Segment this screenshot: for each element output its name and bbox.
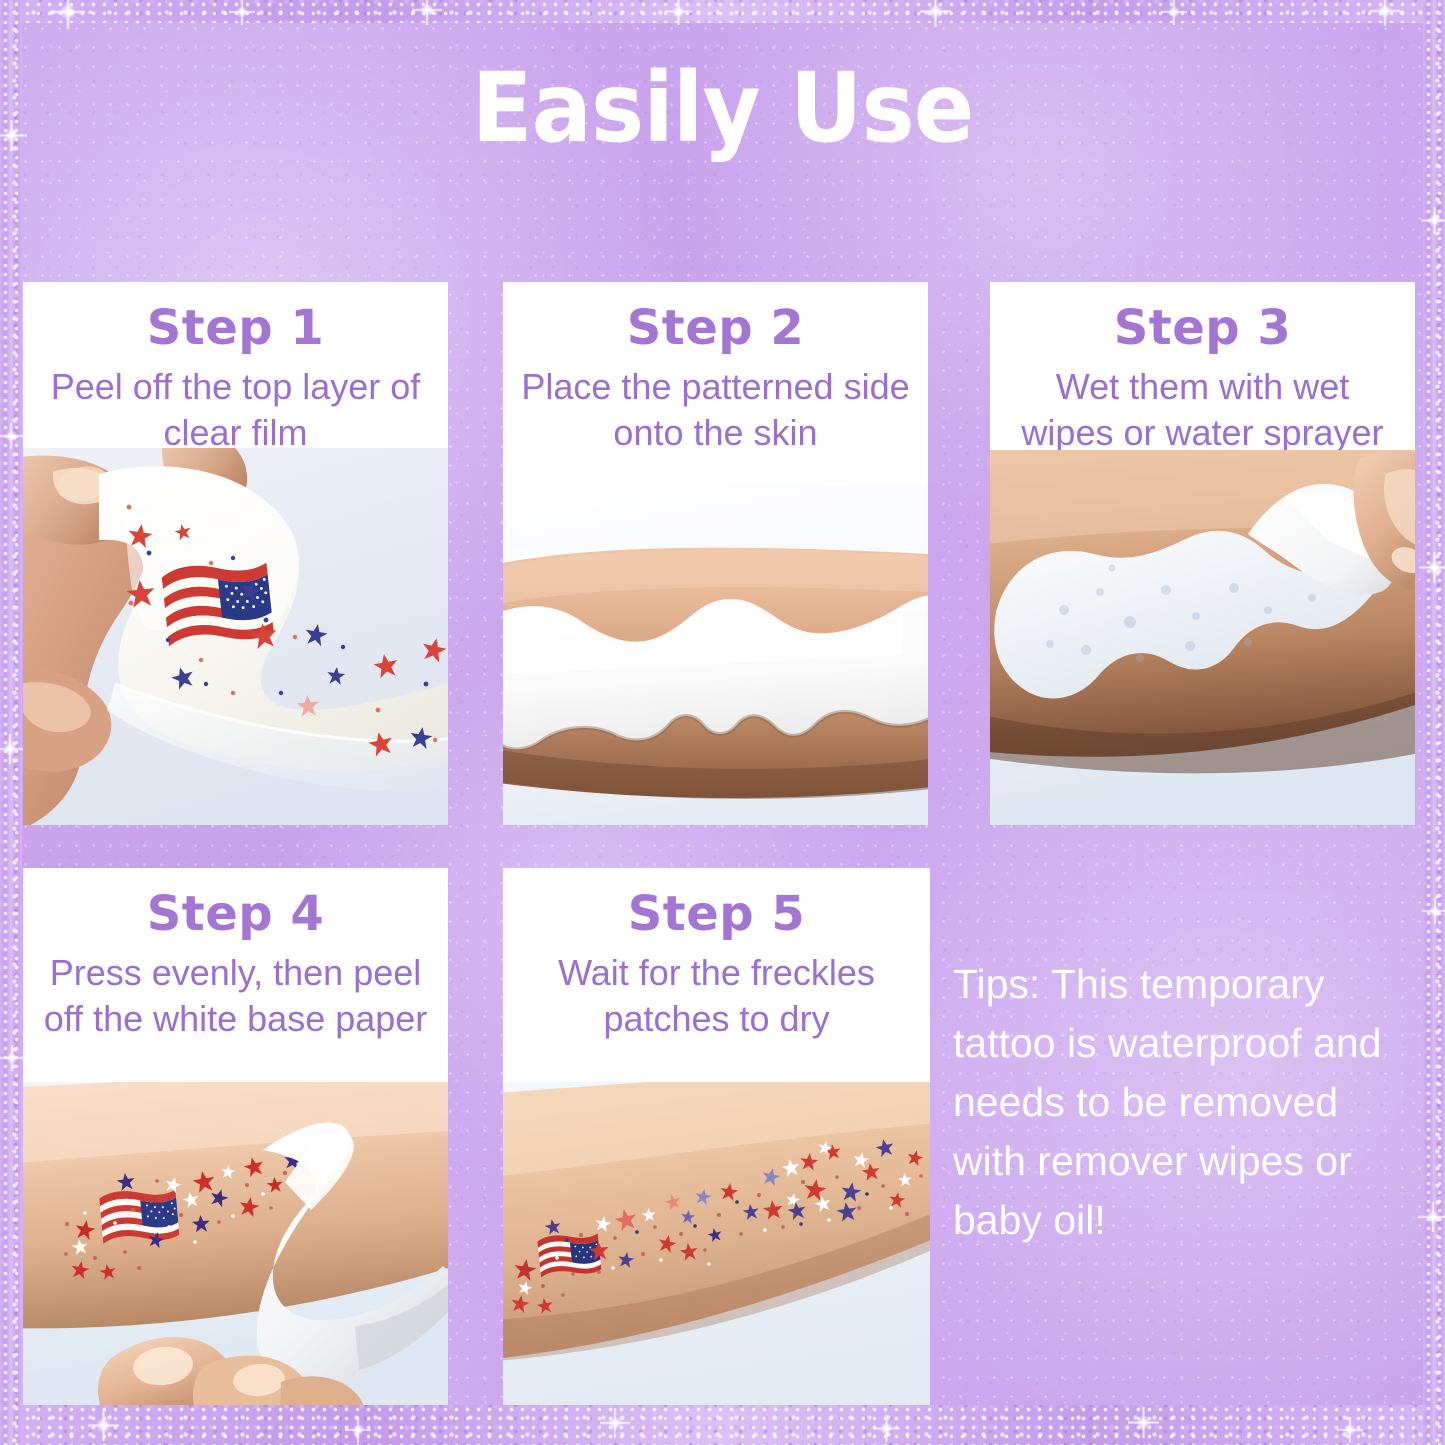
step-5-description: Wait for the freckles patches to dry xyxy=(515,950,918,1042)
sparkle-icon xyxy=(1429,905,1441,917)
sparkle-icon xyxy=(5,430,17,442)
hand-holding-tattoo-sheet-photo xyxy=(23,448,448,825)
sparkle-icon xyxy=(928,4,943,19)
step-3-description: Wet them with wet wipes or water sprayer xyxy=(1002,364,1403,456)
page-title: Easily Use xyxy=(51,58,1395,159)
step-card-5-text: Step 5 Wait for the freckles patches to … xyxy=(503,868,930,1048)
step-3-photo xyxy=(990,450,1415,825)
sparkle-icon xyxy=(1428,214,1441,227)
step-card-3-text: Step 3 Wet them with wet wipes or water … xyxy=(990,282,1415,462)
sparkle-icon xyxy=(420,3,434,17)
easily-use-instruction-poster: Easily Use Step 1 Peel off the top layer… xyxy=(0,0,1445,1445)
tips-text: Tips: This temporary tattoo is waterproo… xyxy=(953,955,1415,1250)
sparkle-icon xyxy=(1168,6,1180,18)
step-1-description: Peel off the top layer of clear film xyxy=(35,364,436,456)
sparkle-icon xyxy=(1427,560,1442,575)
step-4-photo xyxy=(23,1082,448,1405)
sparkle-icon xyxy=(1426,1210,1440,1224)
step-card-2-text: Step 2 Place the patterned side onto the… xyxy=(503,282,928,462)
sparkle-icon xyxy=(880,1422,893,1435)
step-5-title: Step 5 xyxy=(515,890,918,938)
sparkle-icon xyxy=(60,4,76,20)
step-3-title: Step 3 xyxy=(1002,304,1403,352)
step-card-4-text: Step 4 Press evenly, then peel off the w… xyxy=(23,868,448,1048)
finished-tattoo-photo xyxy=(503,1082,930,1405)
step-1-photo xyxy=(23,448,448,825)
sparkle-icon xyxy=(1344,1424,1356,1436)
step-2-title: Step 2 xyxy=(515,304,916,352)
step-card-3: Step 3 Wet them with wet wipes or water … xyxy=(990,282,1415,825)
sparkle-icon xyxy=(96,1418,111,1433)
step-5-photo xyxy=(503,1082,930,1405)
sparkle-icon xyxy=(352,1424,364,1436)
step-card-5: Step 5 Wait for the freckles patches to … xyxy=(503,868,930,1405)
sparkle-icon xyxy=(1378,4,1392,18)
glitter-border-bottom xyxy=(0,1405,1445,1445)
step-card-4: Step 4 Press evenly, then peel off the w… xyxy=(23,868,448,1405)
sparkle-icon xyxy=(1136,1415,1151,1430)
step-2-description: Place the patterned side onto the skin xyxy=(515,364,916,456)
step-card-2: Step 2 Place the patterned side onto the… xyxy=(503,282,928,825)
glitter-border-top xyxy=(0,0,1445,23)
patch-on-forearm-photo xyxy=(503,485,928,825)
sparkle-icon xyxy=(4,128,19,143)
step-4-description: Press evenly, then peel off the white ba… xyxy=(35,950,436,1042)
sparkle-icon xyxy=(3,742,17,756)
sparkle-icon xyxy=(672,5,685,18)
glitter-border-left xyxy=(0,0,22,1445)
sparkle-icon xyxy=(236,6,248,18)
glitter-border-right xyxy=(1423,0,1445,1445)
step-1-title: Step 1 xyxy=(35,304,436,352)
step-card-1: Step 1 Peel off the top layer of clear f… xyxy=(23,282,448,825)
sparkle-icon xyxy=(608,1416,622,1430)
step-4-title: Step 4 xyxy=(35,890,436,938)
step-2-photo xyxy=(503,485,928,825)
sparkle-icon xyxy=(6,1052,18,1064)
wetting-patch-photo xyxy=(990,450,1415,825)
step-card-1-text: Step 1 Peel off the top layer of clear f… xyxy=(23,282,448,462)
peeling-base-paper-photo xyxy=(23,1082,448,1405)
